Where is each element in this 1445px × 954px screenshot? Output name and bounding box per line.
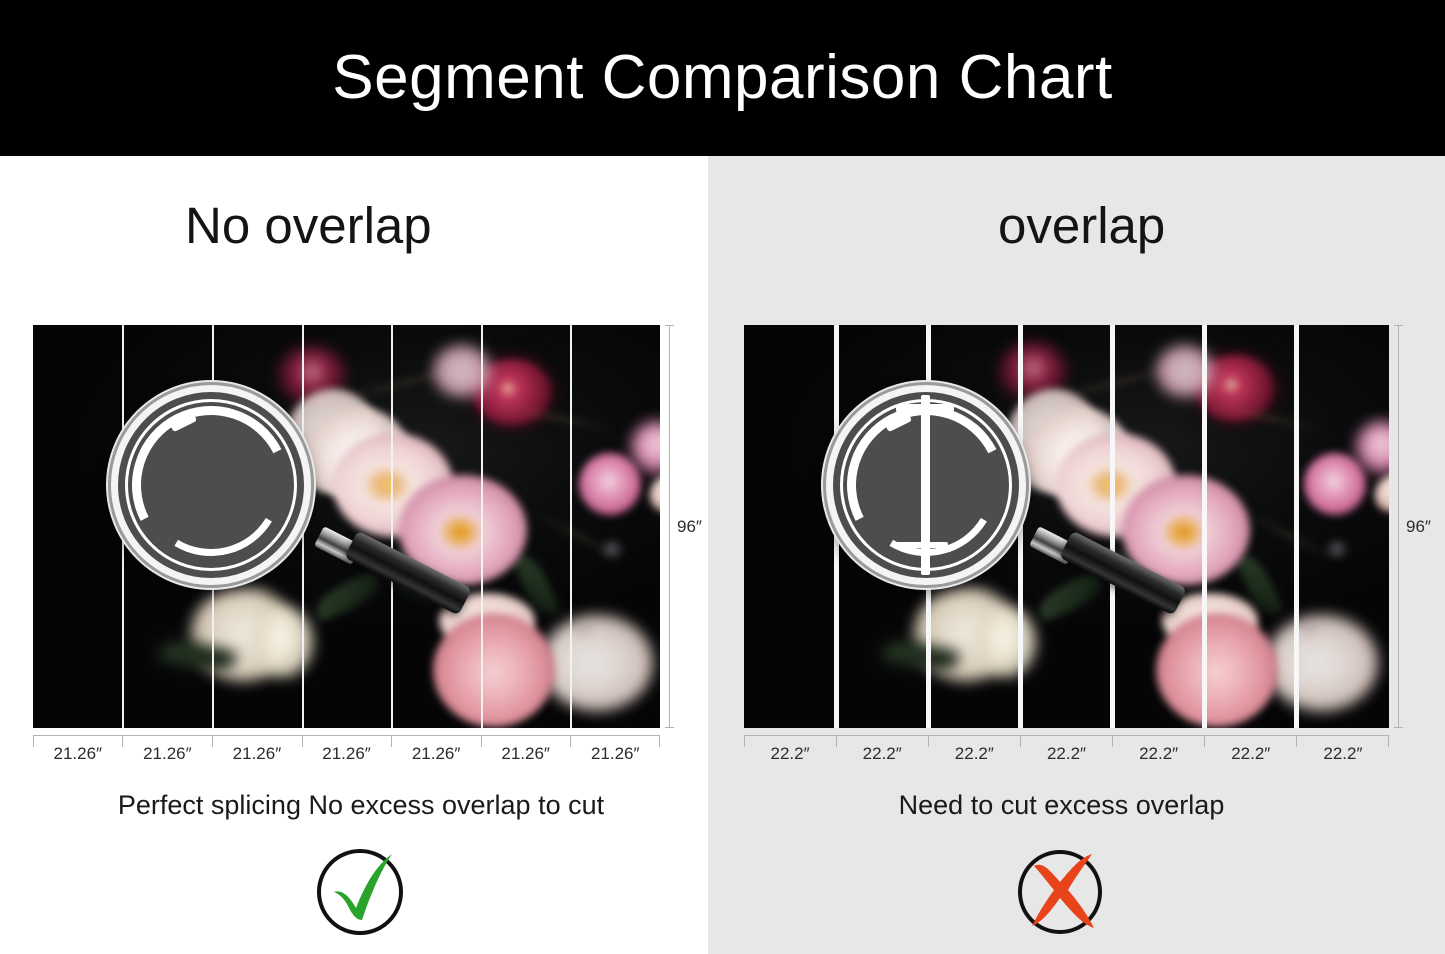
segment-width-label: 21.26″ xyxy=(33,744,123,764)
page-header: Segment Comparison Chart xyxy=(0,0,1445,156)
segment-width-label: 21.26″ xyxy=(570,744,660,764)
segment-width-label: 22.2″ xyxy=(1297,744,1389,764)
seam-line xyxy=(1018,325,1023,728)
caption-no-overlap: Perfect splicing No excess overlap to cu… xyxy=(0,792,708,819)
segment-width-label: 21.26″ xyxy=(481,744,571,764)
seam-line xyxy=(570,325,572,728)
height-dimension-label-right: 96″ xyxy=(1406,517,1431,537)
cross-circle-icon xyxy=(1014,842,1110,938)
segment-width-label: 21.26″ xyxy=(391,744,481,764)
panel-heading-no-overlap: No overlap xyxy=(0,200,708,251)
mural-image-right xyxy=(744,325,1389,728)
segment-width-label: 21.26″ xyxy=(212,744,302,764)
segment-comparison-page: Segment Comparison Chart No overlap xyxy=(0,0,1445,954)
segment-width-label: 22.2″ xyxy=(1205,744,1297,764)
comparison-panels: No overlap xyxy=(0,156,1445,954)
segment-width-label: 22.2″ xyxy=(836,744,928,764)
segment-width-label: 22.2″ xyxy=(744,744,836,764)
floral-artwork-left xyxy=(33,325,660,728)
check-circle-icon xyxy=(312,842,408,938)
segment-width-label: 22.2″ xyxy=(1113,744,1205,764)
mural-no-overlap xyxy=(33,325,660,728)
seam-line xyxy=(212,325,214,728)
seam-line xyxy=(1110,325,1115,728)
mural-overlap xyxy=(744,325,1389,728)
segment-width-label: 22.2″ xyxy=(1020,744,1112,764)
segment-width-label: 21.26″ xyxy=(302,744,392,764)
verdict-overlap xyxy=(708,842,1445,938)
seam-line xyxy=(391,325,393,728)
floral-artwork-right xyxy=(744,325,1389,728)
segment-width-label: 21.26″ xyxy=(123,744,213,764)
height-dimension-label-left: 96″ xyxy=(677,517,702,537)
width-dimension-left: 21.26″ 21.26″ 21.26″ 21.26″ 21.26″ 21.26… xyxy=(33,735,660,775)
seam-line xyxy=(926,325,931,728)
seam-line xyxy=(122,325,124,728)
caption-overlap: Need to cut excess overlap xyxy=(708,792,1445,819)
segment-width-label: 22.2″ xyxy=(928,744,1020,764)
seam-line xyxy=(1294,325,1299,728)
seam-line xyxy=(1202,325,1207,728)
width-dimension-right: 22.2″ 22.2″ 22.2″ 22.2″ 22.2″ 22.2″ 22.2… xyxy=(744,735,1389,775)
height-dimension-right: 96″ xyxy=(1394,325,1445,728)
page-title: Segment Comparison Chart xyxy=(332,47,1112,109)
seam-line xyxy=(481,325,483,728)
panel-no-overlap: No overlap xyxy=(0,156,708,954)
panel-overlap: overlap xyxy=(708,156,1445,954)
seam-line xyxy=(302,325,304,728)
panel-heading-overlap: overlap xyxy=(708,200,1445,251)
verdict-no-overlap xyxy=(0,842,708,938)
seam-line xyxy=(834,325,839,728)
mural-image-left xyxy=(33,325,660,728)
